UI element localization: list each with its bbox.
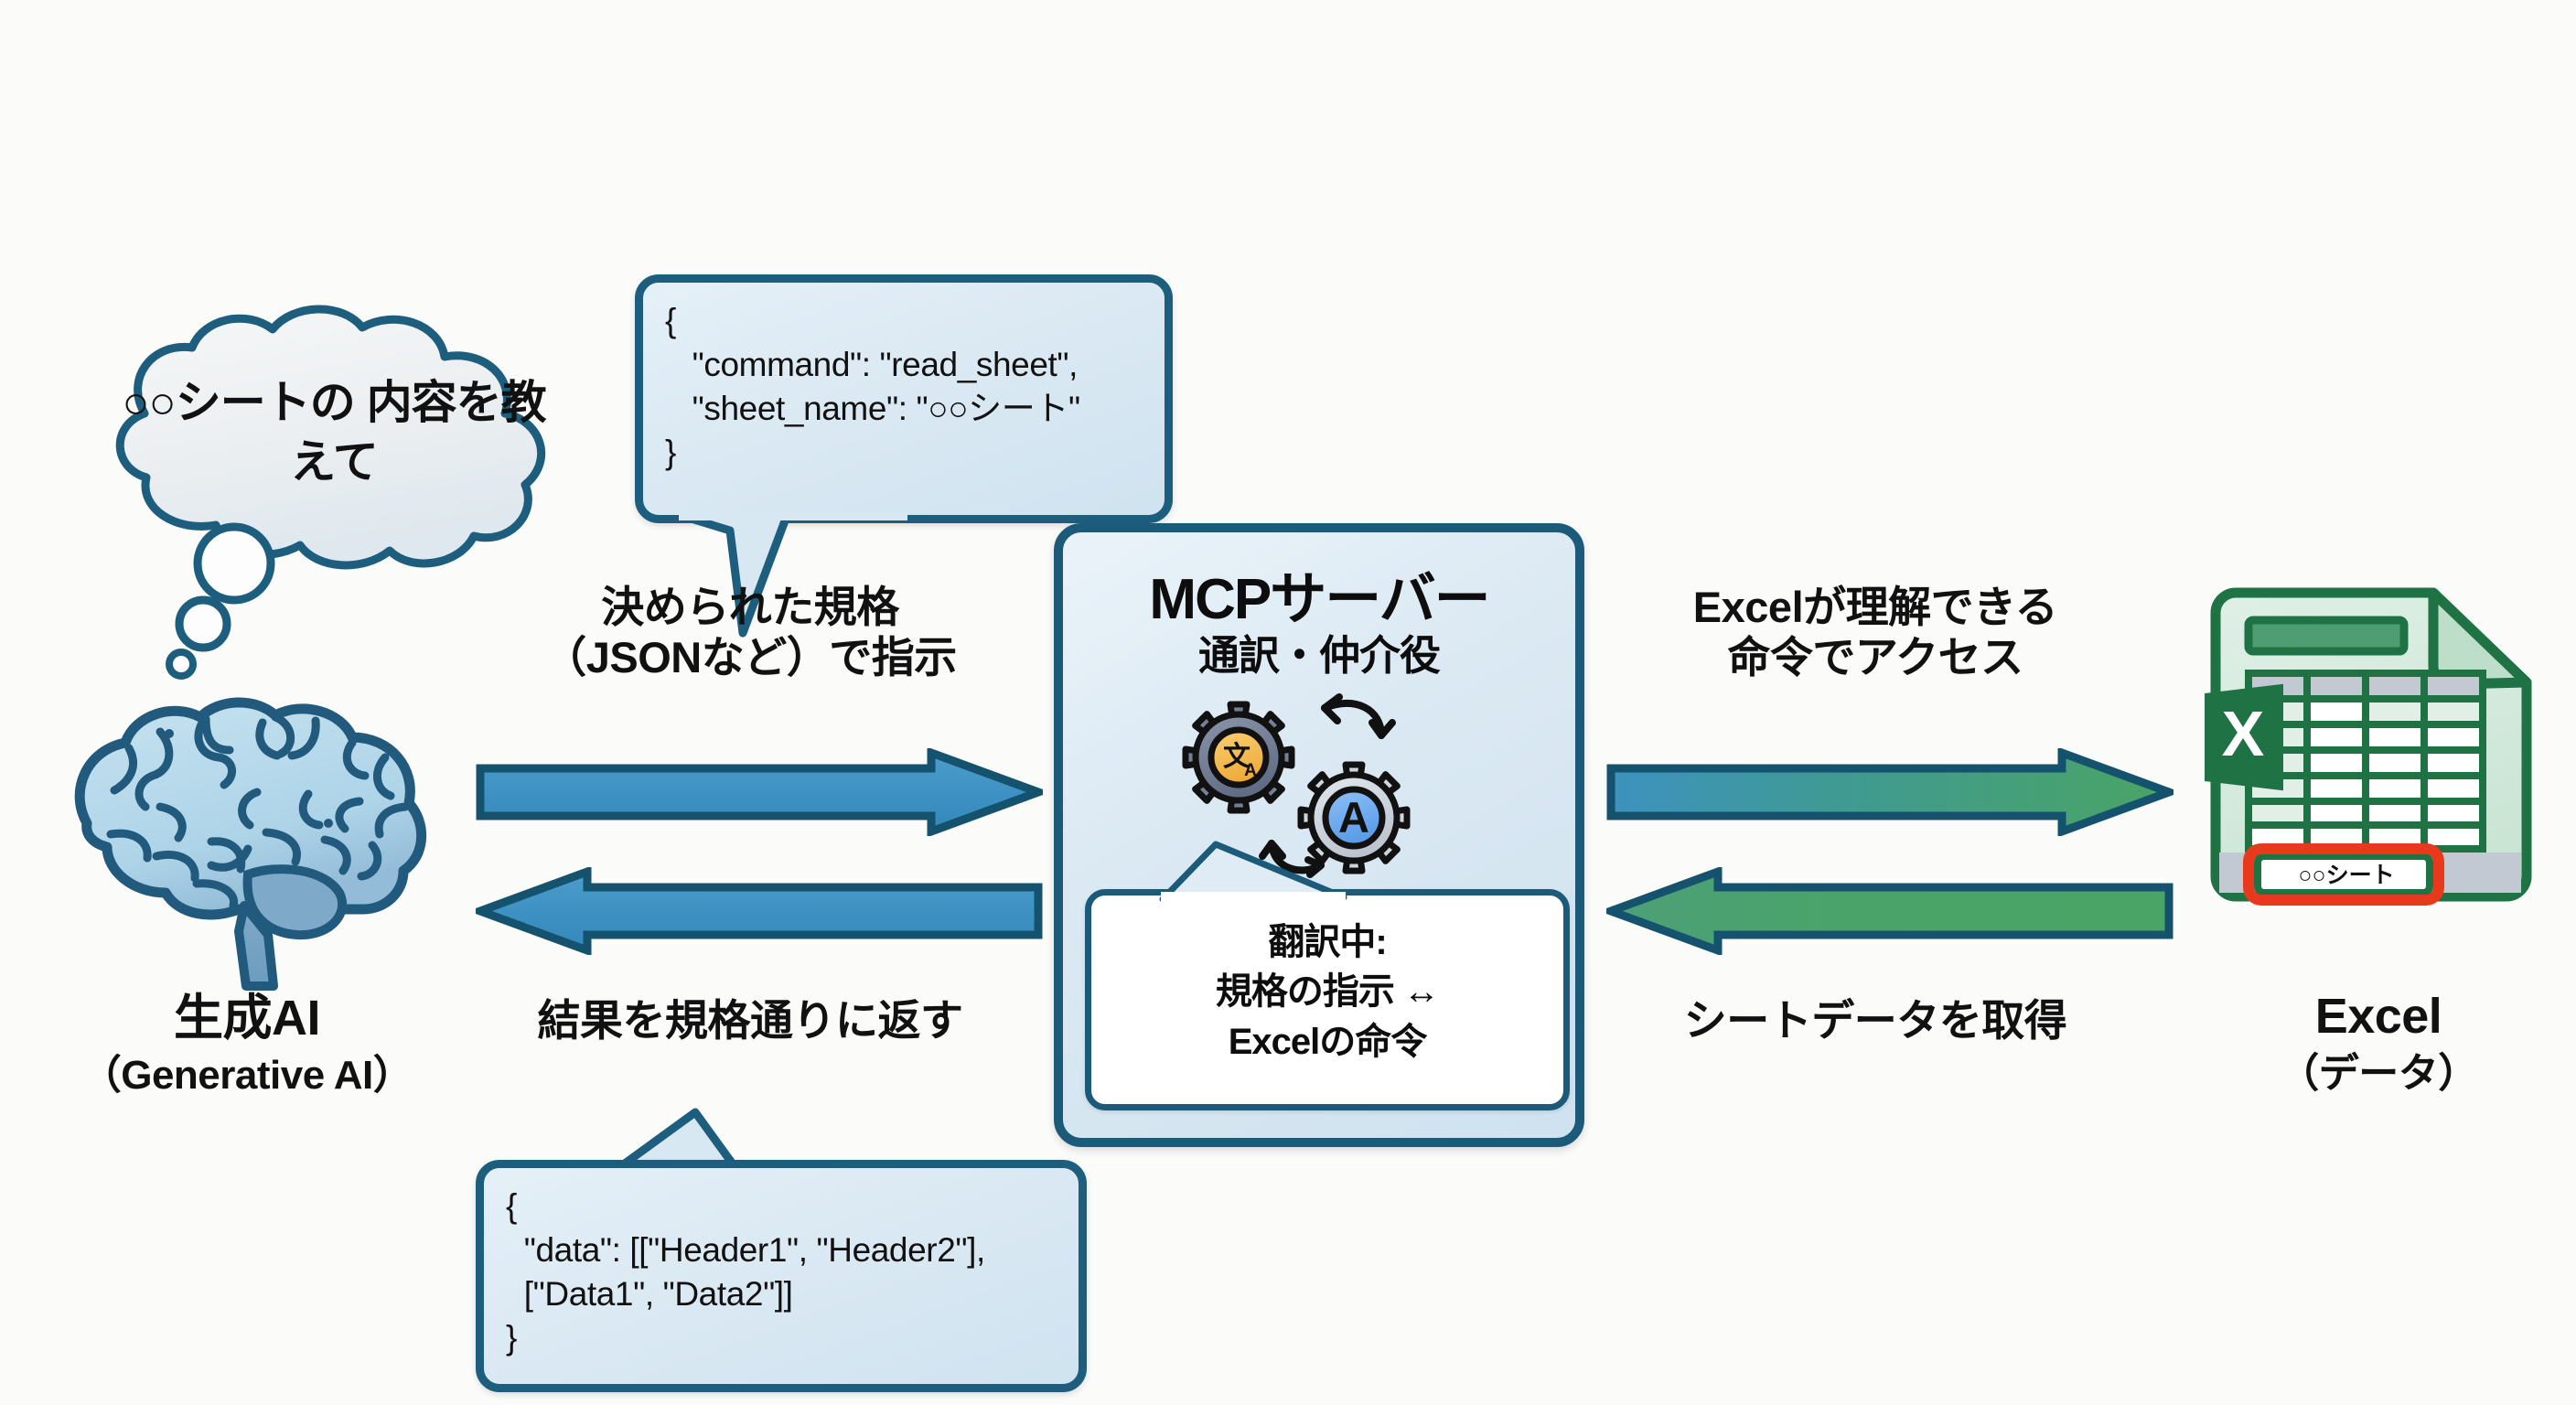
mcp-server-subtitle: 通訳・仲介役 (1063, 622, 1575, 681)
generative-ai-label: 生成AI （Generative AI） (18, 990, 476, 1099)
mcp-status-box-notch (1155, 839, 1357, 903)
json-request-bubble: { "command": "read_sheet", "sheet_name":… (635, 274, 1173, 523)
generative-ai-label-en: （Generative AI） (18, 1052, 476, 1099)
flow-arrow-mcp-to-ai (476, 867, 1043, 955)
flow-arrow-excel-to-mcp (1606, 867, 2173, 955)
json-response-bubble: { "data": [["Header1", "Header2"], ["Dat… (476, 1160, 1087, 1392)
flow-arrow-mcp-to-excel (1606, 748, 2173, 836)
svg-text:A: A (1244, 761, 1257, 780)
excel-label-jp: Excel (2186, 988, 2571, 1046)
excel-label-en: （データ） (2186, 1050, 2571, 1098)
excel-sheet-tab-label[interactable]: ○○シート (2269, 857, 2424, 890)
thought-bubble-text: ○○シートの 内容を教えて (119, 373, 549, 492)
diagram-canvas: ○○シートの 内容を教えて { "command": "read_sheet",… (0, 0, 2576, 1405)
json-response-text: { "data": [["Header1", "Header2"], ["Dat… (484, 1168, 1079, 1360)
caption-mcp-to-ai: 結果を規格通りに返す (457, 995, 1043, 1046)
caption-mcp-to-excel: Excelが理解できる 命令でアクセス (1592, 582, 2159, 683)
excel-label: Excel （データ） (2186, 988, 2571, 1098)
mcp-status-box: 翻訳中: 規格の指示 ↔ Excelの命令 (1085, 889, 1570, 1110)
translate-gear-icon: 文 A (1186, 704, 1292, 810)
mcp-server-card: MCPサーバー 通訳・仲介役 (1054, 523, 1584, 1147)
generative-ai-label-jp: 生成AI (18, 990, 476, 1048)
json-request-text: { "command": "read_sheet", "sheet_name":… (643, 283, 1165, 475)
brain-icon (50, 695, 444, 1006)
mcp-status-text: 翻訳中: 規格の指示 ↔ Excelの命令 (1091, 917, 1563, 1067)
svg-text:A: A (1338, 793, 1369, 842)
flow-arrow-ai-to-mcp (476, 748, 1043, 836)
thought-dots-icon (146, 521, 329, 695)
excel-document-icon: X ○○シート (2205, 585, 2552, 951)
excel-badge-letter: X (2222, 698, 2265, 769)
caption-ai-to-mcp: 決められた規格 （JSONなど）で指示 (448, 582, 1052, 683)
thought-bubble: ○○シートの 内容を教えて (37, 302, 622, 576)
caption-excel-to-mcp: シートデータを取得 (1601, 995, 2150, 1046)
